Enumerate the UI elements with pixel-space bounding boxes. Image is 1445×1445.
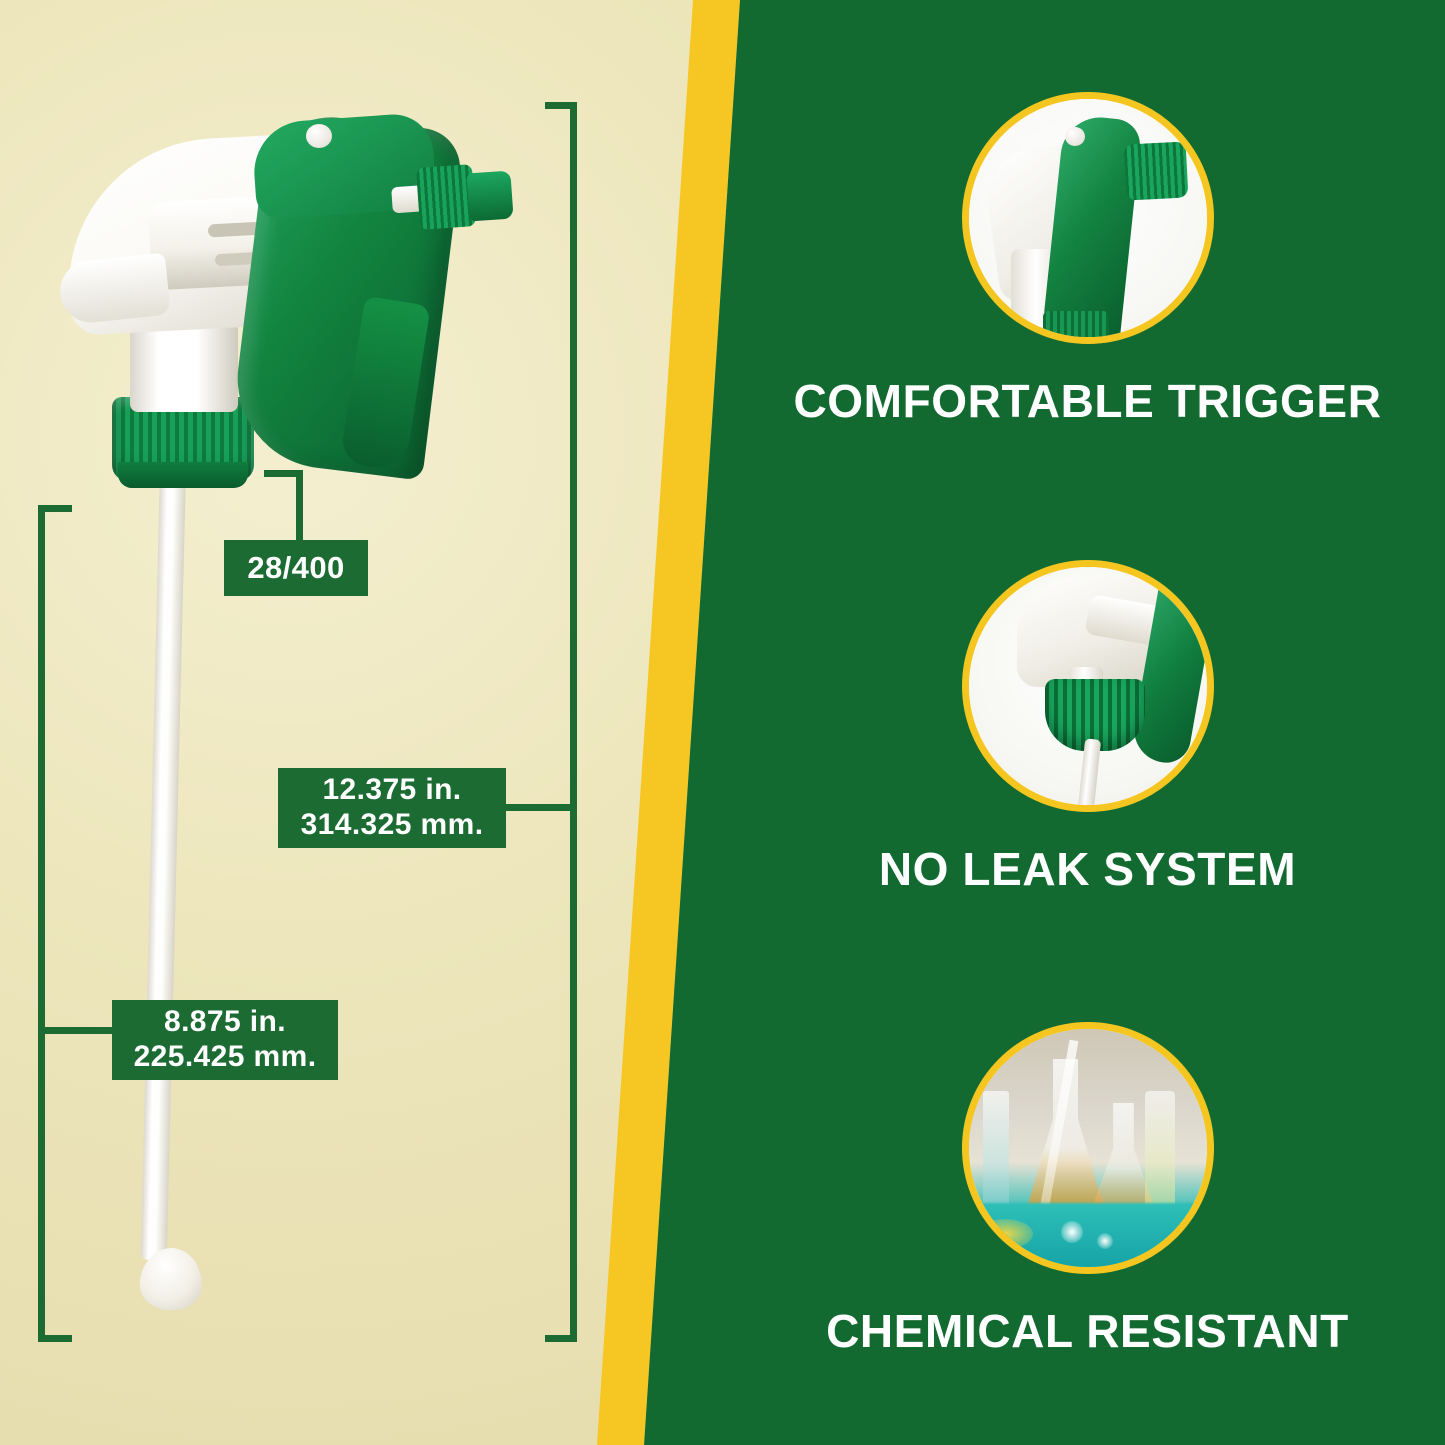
dip-tube	[141, 470, 186, 1260]
test-tube-right	[1145, 1091, 1175, 1211]
trigger-pivot-pin	[306, 124, 332, 148]
yellow-liquid-highlight	[977, 1219, 1033, 1249]
dip-tube-bracket-top-tick	[38, 505, 72, 512]
callout-neck-finish: 28/400	[224, 540, 368, 596]
feature-title-no-leak-system: NO LEAK SYSTEM	[735, 842, 1440, 896]
closeup-cap	[1043, 311, 1109, 344]
neck-finish-leader-horizontal	[264, 470, 303, 477]
overall-length-bracket-bottom-tick	[545, 1335, 577, 1342]
cap-closure-closeup-photo	[962, 560, 1214, 812]
overall-length-bracket-line	[570, 102, 577, 1342]
cap-lip	[118, 462, 248, 488]
dip-tube-bracket-bottom-tick	[38, 1335, 72, 1342]
callout-overall-length-inches: 12.375 in.	[301, 773, 484, 808]
feature-title-comfortable-trigger: COMFORTABLE TRIGGER	[735, 374, 1440, 428]
overall-length-bracket-top-tick	[545, 102, 577, 109]
callout-overall-length: 12.375 in. 314.325 mm.	[278, 768, 506, 848]
trigger-closeup-photo	[962, 92, 1214, 344]
feature-comfortable-trigger: COMFORTABLE TRIGGER	[735, 92, 1440, 428]
callout-dip-tube-inches: 8.875 in.	[134, 1005, 317, 1040]
feature-title-chemical-resistant: CHEMICAL RESISTANT	[735, 1304, 1440, 1358]
callout-dip-tube-mm: 225.425 mm.	[134, 1040, 317, 1075]
trigger-sprayer-illustration	[0, 0, 760, 1445]
closeup-nozzle	[1123, 141, 1188, 200]
dip-tube-leader-line	[41, 1027, 119, 1034]
dip-tube-bracket-line	[38, 505, 45, 1341]
nozzle-tip	[466, 171, 513, 222]
callout-dip-tube-length: 8.875 in. 225.425 mm.	[112, 1000, 338, 1080]
callout-neck-finish-line1: 28/400	[247, 550, 344, 586]
specular-highlight-2	[1097, 1233, 1113, 1249]
callout-overall-length-mm: 314.325 mm.	[301, 808, 484, 843]
lab-glassware-photo	[962, 1022, 1214, 1274]
feature-chemical-resistant: CHEMICAL RESISTANT	[735, 1022, 1440, 1358]
feature-no-leak-system: NO LEAK SYSTEM	[735, 560, 1440, 896]
closeup-pivot-pin	[1065, 127, 1085, 146]
neck-finish-leader-vertical	[296, 470, 303, 540]
specular-highlight-1	[1061, 1221, 1083, 1243]
overall-length-leader-line	[500, 804, 574, 811]
infographic-canvas: 28/400 12.375 in. 314.325 mm. 8.875 in. …	[0, 0, 1445, 1445]
